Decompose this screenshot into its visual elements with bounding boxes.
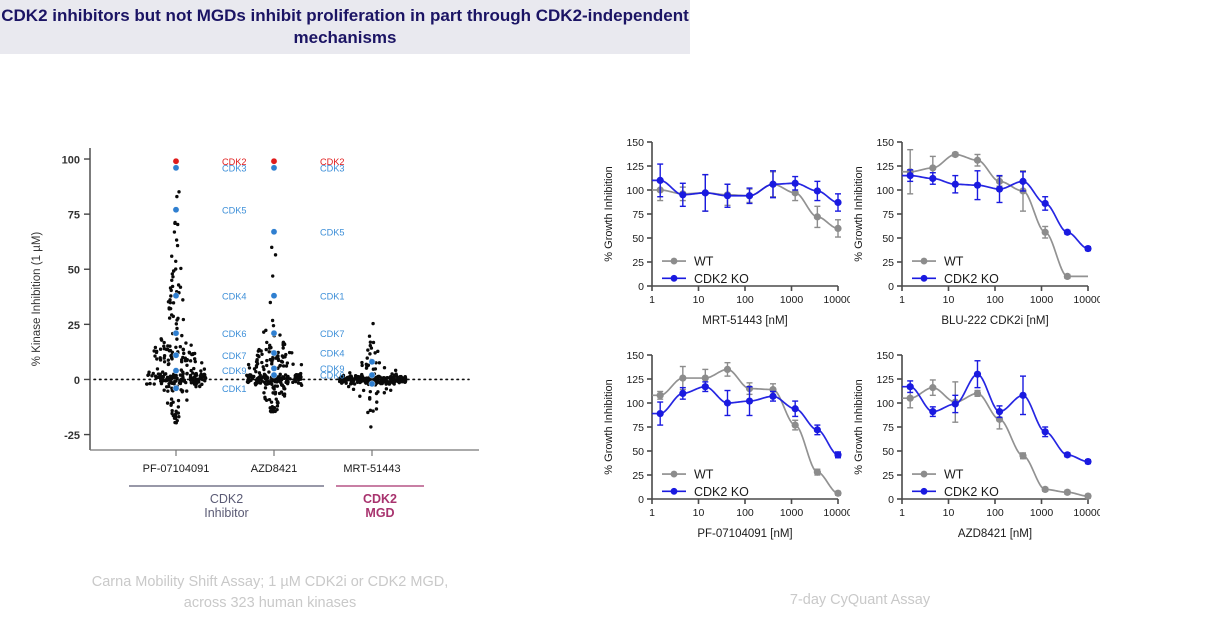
svg-text:1000: 1000 [1030, 507, 1054, 519]
svg-text:150: 150 [876, 350, 894, 362]
svg-text:50: 50 [68, 265, 80, 277]
svg-text:AZD8421: AZD8421 [251, 463, 297, 475]
svg-text:CDK6: CDK6 [320, 371, 345, 381]
svg-text:PF-07104091 [nM]: PF-07104091 [nM] [697, 528, 792, 540]
dose-response-chart-mrt-51443: 1501251007550250110100100010000% Growth … [600, 128, 850, 343]
svg-text:MGD: MGD [365, 506, 394, 520]
svg-text:0: 0 [638, 494, 644, 506]
dose-response-chart-blu-222: 1501251007550250110100100010000% Growth … [850, 128, 1100, 343]
svg-text:1000: 1000 [1030, 294, 1054, 306]
svg-text:125: 125 [876, 374, 894, 386]
svg-text:Inhibitor: Inhibitor [204, 506, 248, 520]
svg-text:10: 10 [693, 507, 705, 519]
svg-text:1000: 1000 [780, 294, 804, 306]
svg-text:WT: WT [944, 468, 964, 482]
svg-text:1: 1 [899, 294, 905, 306]
svg-text:150: 150 [626, 137, 644, 149]
svg-text:50: 50 [882, 446, 894, 458]
svg-text:CDK5: CDK5 [320, 227, 345, 237]
svg-text:WT: WT [694, 255, 714, 269]
svg-text:CDK1: CDK1 [320, 291, 345, 301]
svg-text:1: 1 [649, 507, 655, 519]
svg-text:10: 10 [943, 507, 955, 519]
svg-text:1: 1 [899, 507, 905, 519]
svg-text:100: 100 [736, 507, 754, 519]
svg-text:0: 0 [888, 281, 894, 293]
svg-text:CDK3: CDK3 [222, 163, 247, 173]
svg-text:100: 100 [626, 185, 644, 197]
svg-text:CDK3: CDK3 [320, 163, 345, 173]
svg-text:CDK6: CDK6 [222, 329, 247, 339]
svg-text:CDK4: CDK4 [222, 291, 247, 301]
svg-text:BLU-222 CDK2i [nM]: BLU-222 CDK2i [nM] [941, 315, 1048, 327]
svg-text:1000: 1000 [780, 507, 804, 519]
svg-text:75: 75 [882, 209, 894, 221]
dose-response-chart-azd8421: 1501251007550250110100100010000% Growth … [850, 341, 1100, 556]
svg-text:% Growth Inhibition: % Growth Inhibition [853, 379, 865, 474]
svg-text:CDK5: CDK5 [222, 205, 247, 215]
svg-text:50: 50 [632, 233, 644, 245]
svg-text:10000: 10000 [1073, 507, 1100, 519]
svg-text:75: 75 [632, 422, 644, 434]
svg-text:CDK7: CDK7 [222, 351, 247, 361]
svg-text:100: 100 [62, 155, 80, 167]
svg-text:25: 25 [68, 320, 80, 332]
svg-text:CDK2: CDK2 [363, 492, 397, 506]
svg-text:10000: 10000 [1073, 294, 1100, 306]
svg-text:% Kinase Inhibition (1 µM): % Kinase Inhibition (1 µM) [31, 232, 43, 367]
svg-text:% Growth Inhibition: % Growth Inhibition [853, 166, 865, 261]
svg-text:10000: 10000 [823, 294, 850, 306]
svg-text:50: 50 [632, 446, 644, 458]
right-panel-title: CDK2 inhibitors but not MGDs inhibit pro… [0, 0, 690, 54]
right-panel-caption: 7-day CyQuant Assay [700, 590, 1020, 611]
svg-text:CDK7: CDK7 [320, 329, 345, 339]
svg-text:WT: WT [944, 255, 964, 269]
left-panel-caption: Carna Mobility Shift Assay; 1 µM CDK2i o… [85, 572, 455, 614]
svg-text:0: 0 [638, 281, 644, 293]
svg-text:MRT-51443: MRT-51443 [343, 463, 400, 475]
svg-text:125: 125 [626, 161, 644, 173]
svg-text:1: 1 [649, 294, 655, 306]
svg-text:125: 125 [626, 374, 644, 386]
svg-text:100: 100 [626, 398, 644, 410]
svg-text:25: 25 [632, 470, 644, 482]
svg-text:75: 75 [882, 422, 894, 434]
svg-text:150: 150 [626, 350, 644, 362]
svg-text:25: 25 [882, 470, 894, 482]
kinome-scatter-chart: 1007550250-25% Kinase Inhibition (1 µM)C… [24, 130, 494, 570]
svg-text:CDK9: CDK9 [222, 366, 247, 376]
svg-text:100: 100 [876, 398, 894, 410]
svg-text:MRT-51443 [nM]: MRT-51443 [nM] [702, 315, 787, 327]
svg-text:10: 10 [693, 294, 705, 306]
svg-text:PF-07104091: PF-07104091 [143, 463, 210, 475]
svg-text:25: 25 [632, 257, 644, 269]
svg-text:100: 100 [986, 294, 1004, 306]
svg-text:75: 75 [632, 209, 644, 221]
svg-text:75: 75 [68, 210, 80, 222]
svg-text:CDK2 KO: CDK2 KO [694, 272, 749, 286]
svg-text:% Growth Inhibition: % Growth Inhibition [603, 379, 615, 474]
dose-response-chart-pf-07104091: 1501251007550250110100100010000% Growth … [600, 341, 850, 556]
svg-text:CDK2 KO: CDK2 KO [694, 485, 749, 499]
svg-text:10000: 10000 [823, 507, 850, 519]
svg-text:50: 50 [882, 233, 894, 245]
svg-text:100: 100 [986, 507, 1004, 519]
svg-text:0: 0 [888, 494, 894, 506]
svg-text:100: 100 [736, 294, 754, 306]
svg-text:CDK2: CDK2 [210, 492, 243, 506]
svg-text:AZD8421 [nM]: AZD8421 [nM] [958, 528, 1032, 540]
svg-text:CDK2 KO: CDK2 KO [944, 272, 999, 286]
svg-text:WT: WT [694, 468, 714, 482]
svg-text:CDK4: CDK4 [320, 349, 345, 359]
svg-text:CDK2 KO: CDK2 KO [944, 485, 999, 499]
svg-text:100: 100 [876, 185, 894, 197]
svg-text:% Growth Inhibition: % Growth Inhibition [603, 166, 615, 261]
svg-text:125: 125 [876, 161, 894, 173]
svg-text:CDK1: CDK1 [222, 384, 247, 394]
svg-text:150: 150 [876, 137, 894, 149]
svg-text:-25: -25 [64, 430, 80, 442]
svg-text:10: 10 [943, 294, 955, 306]
right-panel: CDK2 inhibitors but not MGDs inhibit pro… [0, 0, 690, 54]
svg-text:0: 0 [74, 375, 80, 387]
svg-text:25: 25 [882, 257, 894, 269]
